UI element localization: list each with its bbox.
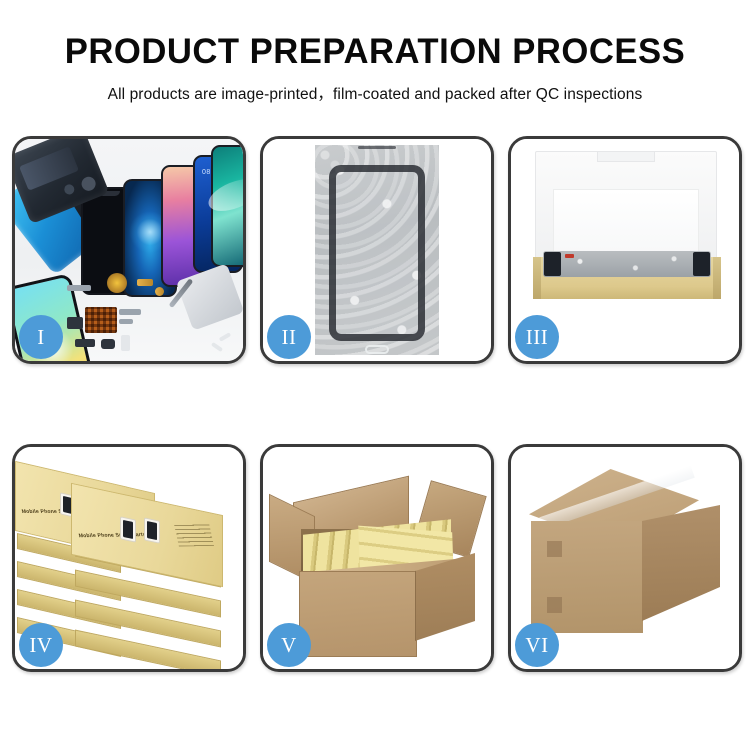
step-badge-6: VI <box>515 623 559 667</box>
chip-array-part-image <box>85 307 117 333</box>
carton-front-face <box>531 521 643 633</box>
phone-screen-outline <box>329 165 425 341</box>
teal-wave-phone-image <box>211 145 243 267</box>
small-part-image <box>155 287 164 296</box>
small-part-image <box>75 339 95 347</box>
small-part-image <box>67 285 91 291</box>
page-subtitle: All products are image-printed，film-coat… <box>0 82 750 104</box>
box-spec-lines <box>174 523 214 546</box>
step-badge-5: V <box>267 623 311 667</box>
step-panel-6: VI <box>508 444 742 672</box>
step-badge-4: IV <box>19 623 63 667</box>
small-part-image <box>121 335 130 351</box>
product-preparation-process-page: PRODUCT PREPARATION PROCESS All products… <box>0 0 750 750</box>
carton-side-face <box>642 505 720 621</box>
header: PRODUCT PREPARATION PROCESS All products… <box>0 0 750 104</box>
carton-handle-tab <box>547 597 562 613</box>
step-badge-3: III <box>515 315 559 359</box>
carton-front-face <box>299 571 417 657</box>
step-badge-2: II <box>267 315 311 359</box>
step-panel-4: Mobile Phone Spare Parts Mobile Phone Sp… <box>12 444 246 672</box>
small-part-image <box>119 319 133 324</box>
step-panel-5: V <box>260 444 494 672</box>
small-part-image <box>119 309 141 315</box>
small-part-image <box>101 339 115 349</box>
bubble-wrap-photo <box>315 145 439 355</box>
step-panel-3: III <box>508 136 742 364</box>
screen-endcap <box>544 252 561 276</box>
small-part-image <box>67 317 83 329</box>
carton-handle-tab <box>547 541 562 557</box>
speaker-coil-part-image <box>107 273 127 293</box>
small-part-image <box>137 279 153 286</box>
box-product-thumbnail <box>144 517 160 543</box>
box-product-thumbnail <box>120 516 136 542</box>
step-panel-1: 08:08 I <box>12 136 246 364</box>
box-label: Mobile Phone Spare Parts <box>78 532 146 539</box>
packed-screen-image <box>543 251 711 277</box>
page-title: PRODUCT PREPARATION PROCESS <box>4 34 747 71</box>
step-badge-1: I <box>19 315 63 359</box>
home-button-shape <box>365 345 389 354</box>
process-steps-grid: 08:08 I <box>12 136 738 672</box>
screen-endcap <box>693 252 710 276</box>
red-marker <box>565 254 574 258</box>
step-panel-2: II <box>260 136 494 364</box>
